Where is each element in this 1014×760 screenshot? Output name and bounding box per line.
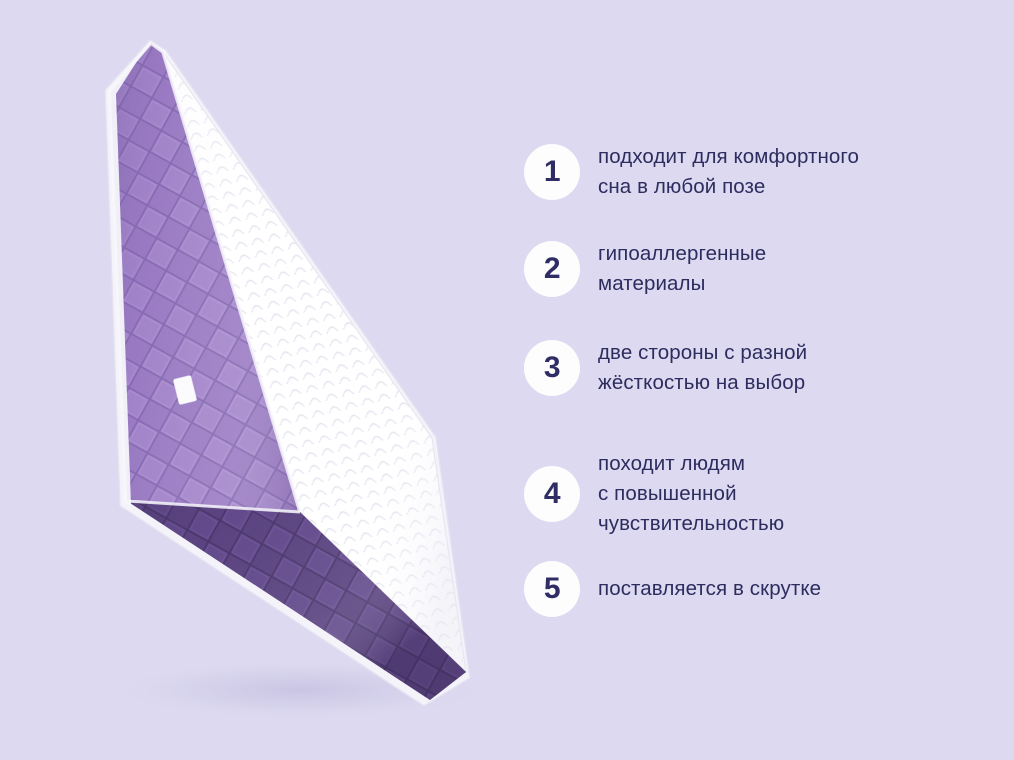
feature-number-1: 1: [544, 157, 560, 187]
feature-number-badge-1: 1: [524, 144, 580, 200]
feature-text-2: гипоаллергенные материалы: [598, 239, 766, 299]
product-image: [0, 0, 510, 760]
feature-text-1: подходит для комфортного сна в любой поз…: [598, 142, 859, 202]
feature-item-2: 2 гипоаллергенные материалы: [524, 239, 766, 299]
feature-item-1: 1 подходит для комфортного сна в любой п…: [524, 142, 859, 202]
features-list: 1 подходит для комфортного сна в любой п…: [512, 0, 1014, 760]
feature-number-4: 4: [544, 479, 560, 509]
mattress-illustration: [0, 0, 510, 760]
feature-text-4: походит людям с повышенной чувствительно…: [598, 449, 784, 539]
feature-number-5: 5: [544, 574, 560, 604]
feature-item-5: 5 поставляется в скрутке: [524, 561, 821, 617]
feature-number-3: 3: [544, 353, 560, 383]
feature-number-badge-3: 3: [524, 340, 580, 396]
feature-text-3: две стороны с разной жёсткостью на выбор: [598, 338, 807, 398]
feature-number-badge-2: 2: [524, 241, 580, 297]
feature-text-5: поставляется в скрутке: [598, 574, 821, 604]
feature-item-4: 4 походит людям с повышенной чувствитель…: [524, 449, 784, 539]
infographic-canvas: 1 подходит для комфортного сна в любой п…: [0, 0, 1014, 760]
feature-number-badge-5: 5: [524, 561, 580, 617]
feature-number-badge-4: 4: [524, 466, 580, 522]
feature-item-3: 3 две стороны с разной жёсткостью на выб…: [524, 338, 807, 398]
feature-number-2: 2: [544, 254, 560, 284]
